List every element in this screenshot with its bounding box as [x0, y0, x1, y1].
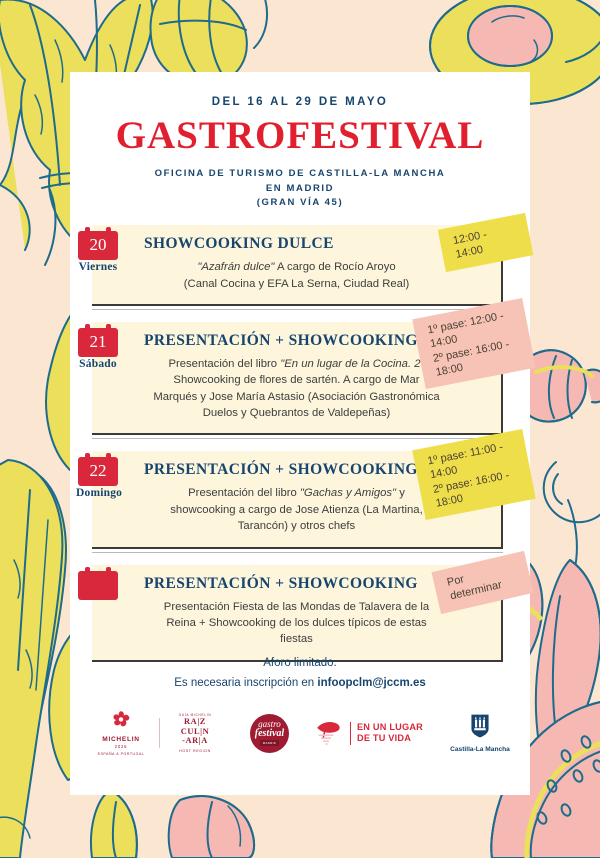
calendar-icon: 20 Viernes: [76, 227, 120, 273]
signup-email[interactable]: infoopclm@jccm.es: [317, 677, 425, 689]
gastrofestival-line-2: festival: [255, 729, 284, 739]
logo-row: MICHELIN 2025 ESPAÑA & PORTUGAL GUÍA MIC…: [70, 710, 530, 756]
windmill-icon: [314, 719, 344, 747]
venue-subtitle: OFICINA DE TURISMO DE CASTILLA-LA MANCHA…: [70, 167, 530, 211]
event-body-emphasis: "Azafrán dulce": [197, 261, 274, 273]
michelin-year: 2025: [90, 744, 152, 749]
event-body-line: Tarancón) y otros chefs: [126, 518, 467, 534]
gastrofestival-badge: gastro festival MADRID: [250, 714, 289, 753]
event-body-line: Showcooking de flores de sartén. A cargo…: [126, 372, 467, 388]
event-separator: [92, 552, 503, 553]
raiz-cell: Z: [200, 717, 206, 726]
calendar-icon: [76, 567, 120, 601]
event-heading: PRESENTACIÓN + SHOWCOOKING: [144, 575, 467, 593]
event-body-emphasis: "Gachas y Amigos": [300, 487, 396, 499]
calendar-day-name: Viernes: [76, 261, 120, 273]
raiz-cell: RA: [184, 717, 197, 726]
raiz-cell: CUL: [181, 727, 200, 736]
logo-en-un-lugar: EN UN LUGAR DE TU VIDA: [314, 719, 423, 747]
registration-note: Aforo limitado. Es necesaria inscripción…: [70, 654, 530, 693]
raiz-culinaria-block: GUÍA MICHELIN RA|Z CUL|N -AR|A HOST REGI…: [167, 713, 223, 752]
event-body-line: Presentación del libro "Gachas y Amigos"…: [126, 485, 467, 501]
lugar-line-2: DE TU VIDA: [357, 733, 423, 745]
capacity-line: Aforo limitado.: [70, 654, 530, 674]
raiz-line: RA|Z: [167, 717, 223, 726]
event-body-line: Presentación Fiesta de las Mondas de Tal…: [126, 599, 467, 615]
event-body-line: (Canal Cocina y EFA La Serna, Ciudad Rea…: [126, 276, 467, 292]
content-card: DEL 16 AL 29 DE MAYO GASTROFESTIVAL OFIC…: [70, 72, 530, 795]
event-heading: SHOWCOOKING DULCE: [144, 235, 467, 253]
calendar-date-number: 21: [78, 332, 118, 352]
venue-line-3: (GRAN VÍA 45): [70, 196, 530, 211]
event-body-line: Presentación del libro "En un lugar de l…: [126, 356, 467, 372]
michelin-region: ESPAÑA & PORTUGAL: [90, 752, 152, 756]
raiz-line: CUL|N: [167, 727, 223, 736]
castle-shield-icon: [470, 713, 490, 739]
lugar-line-1: EN UN LUGAR: [357, 722, 423, 734]
michelin-name: MICHELIN: [90, 736, 152, 743]
calendar-icon-box: [78, 567, 118, 600]
logo-gastrofestival: gastro festival MADRID: [250, 714, 289, 753]
event-item: 21 Sábado PRESENTACIÓN + SHOWCOOKING Pre…: [70, 322, 530, 440]
calendar-icon: 22 Domingo: [76, 453, 120, 499]
page-title: GASTROFESTIVAL: [70, 116, 530, 155]
venue-line-2: EN MADRID: [70, 182, 530, 197]
raiz-cell: A: [201, 736, 208, 745]
raiz-wordmark: RA|Z CUL|N -AR|A: [167, 717, 223, 745]
raiz-region: HOST REGION: [167, 749, 223, 753]
event-body-line: Duelos y Quebrantos de Valdepeñas): [126, 405, 467, 421]
event-item: PRESENTACIÓN + SHOWCOOKING Presentación …: [70, 565, 530, 662]
calendar-day-name: Sábado: [76, 358, 120, 370]
event-body-line: "Azafrán dulce" A cargo de Rocío Aroyo: [126, 259, 467, 275]
event-separator: [92, 309, 503, 310]
event-item: 20 Viernes SHOWCOOKING DULCE "Azafrán du…: [70, 225, 530, 310]
event-body: "Azafrán dulce" A cargo de Rocío Aroyo (…: [126, 259, 467, 292]
event-body: Presentación del libro "En un lugar de l…: [126, 356, 467, 422]
calendar-body: [78, 571, 118, 600]
event-body: Presentación Fiesta de las Mondas de Tal…: [126, 599, 467, 648]
event-time-tag: 1º pase: 12:00 - 14:00 2º pase: 16:00 - …: [412, 298, 536, 389]
event-body-text: A cargo de Rocío Aroyo: [274, 261, 395, 273]
michelin-block: MICHELIN 2025 ESPAÑA & PORTUGAL: [90, 710, 152, 756]
event-separator: [92, 438, 503, 439]
event-body-text: Presentación del libro: [168, 358, 280, 370]
event-body-emphasis: "En un lugar de la Cocina. 2": [280, 358, 424, 370]
event-body-text: Presentación del libro: [188, 487, 300, 499]
venue-line-1: OFICINA DE TURISMO DE CASTILLA-LA MANCHA: [70, 167, 530, 182]
calendar-icon-box: 21: [78, 324, 118, 357]
castilla-block: Castilla-La Mancha: [450, 713, 510, 753]
calendar-date-number: 22: [78, 461, 118, 481]
raiz-line: -AR|A: [167, 736, 223, 745]
calendar-icon: 21 Sábado: [76, 324, 120, 370]
signup-prefix: Es necesaria inscripción en: [174, 677, 317, 689]
logo-michelin: MICHELIN 2025 ESPAÑA & PORTUGAL GUÍA MIC…: [90, 710, 223, 756]
event-body: Presentación del libro "Gachas y Amigos"…: [126, 485, 467, 534]
event-body-line: Marqués y Jose María Astasio (Asociación…: [126, 389, 467, 405]
raiz-cell: -AR: [182, 736, 199, 745]
poster: DEL 16 AL 29 DE MAYO GASTROFESTIVAL OFIC…: [0, 0, 600, 858]
event-item: 22 Domingo PRESENTACIÓN + SHOWCOOKING Pr…: [70, 451, 530, 552]
michelin-star-icon: [110, 710, 132, 730]
castilla-name: Castilla-La Mancha: [450, 746, 510, 753]
event-body-tail: y: [396, 487, 405, 499]
event-time-tag: Por determinar: [431, 550, 533, 613]
event-time-tag: 12:00 - 14:00: [438, 213, 533, 272]
calendar-date-number: 20: [78, 235, 118, 255]
logo-divider: [159, 718, 160, 748]
event-body-line: Reina + Showcooking de los dulces típico…: [126, 615, 467, 631]
calendar-day-name: Domingo: [76, 487, 120, 499]
gastrofestival-city: MADRID: [260, 740, 279, 746]
event-time-tag: 1º pase: 11:00 - 14:00 2º pase: 16:00 - …: [412, 429, 536, 520]
event-body-line: fiestas: [126, 631, 467, 647]
event-list: 20 Viernes SHOWCOOKING DULCE "Azafrán du…: [70, 225, 530, 662]
signup-line: Es necesaria inscripción en infoopclm@jc…: [70, 674, 530, 694]
date-range-kicker: DEL 16 AL 29 DE MAYO: [70, 96, 530, 108]
logo-castilla-la-mancha: Castilla-La Mancha: [450, 713, 510, 753]
lugar-wordmark: EN UN LUGAR DE TU VIDA: [350, 722, 423, 745]
event-body-line: showcooking a cargo de Jose Atienza (La …: [126, 502, 467, 518]
calendar-icon-box: 20: [78, 227, 118, 260]
raiz-cell: N: [203, 727, 210, 736]
calendar-icon-box: 22: [78, 453, 118, 486]
